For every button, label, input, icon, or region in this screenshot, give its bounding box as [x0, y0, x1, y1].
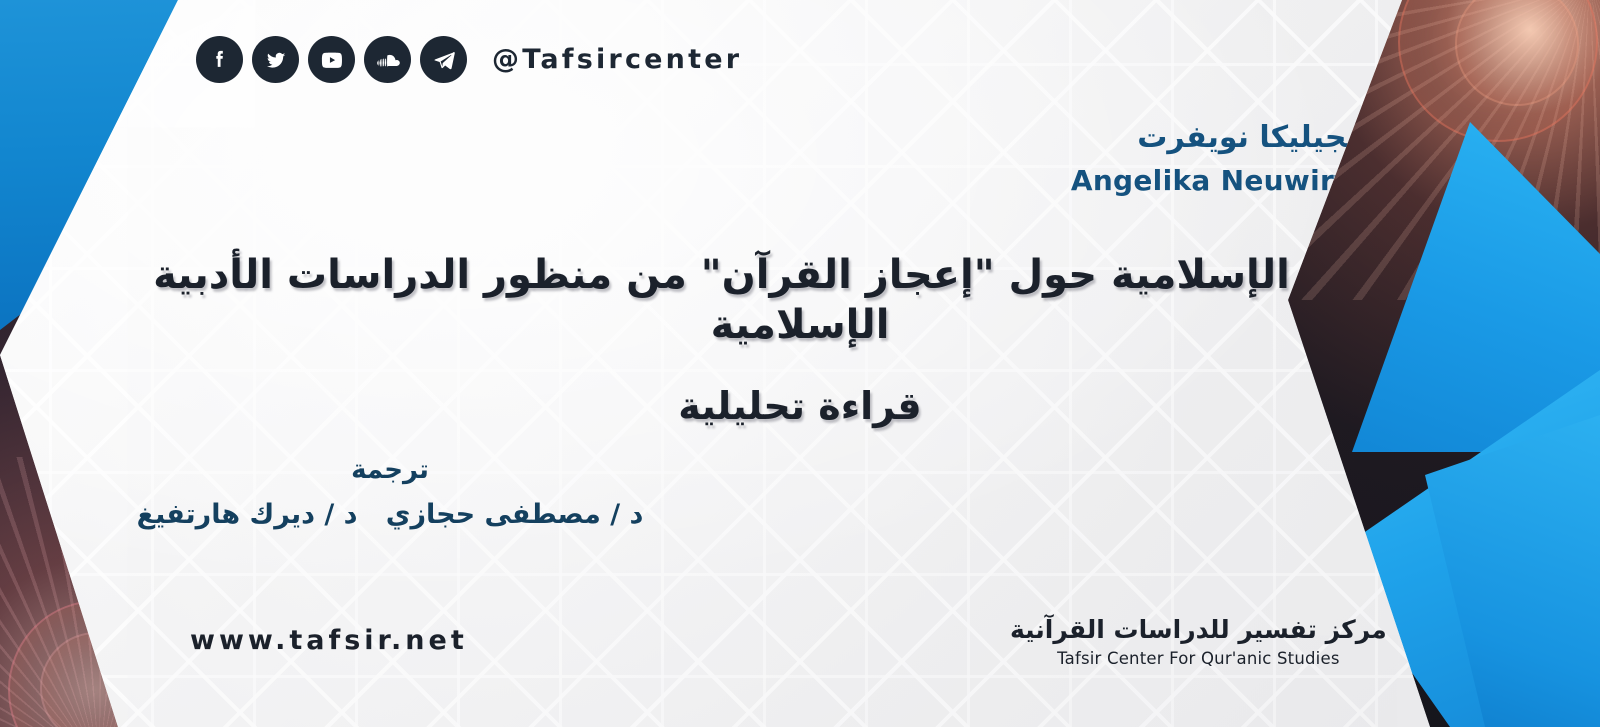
soundcloud-icon[interactable]	[364, 36, 411, 83]
translator-names: د / مصطفى حجازي د / ديرك هارتفيغ	[0, 499, 780, 530]
facebook-icon[interactable]	[196, 36, 243, 83]
youtube-icon[interactable]	[308, 36, 355, 83]
poster-canvas: @Tafsircenter أنجيليكا نويفرت Angelika N…	[0, 0, 1600, 727]
author-block: أنجيليكا نويفرت Angelika Neuwirth	[1071, 120, 1368, 197]
translation-block: ترجمة د / مصطفى حجازي د / ديرك هارتفيغ	[0, 455, 780, 530]
twitter-icon[interactable]	[252, 36, 299, 83]
logo-name-arabic: مركز تفسير للدراسات القرآنية	[1010, 616, 1387, 644]
website-url[interactable]: www.tafsir.net	[190, 625, 468, 656]
author-name-english: Angelika Neuwirth	[1071, 164, 1368, 197]
social-links-bar: @Tafsircenter	[196, 36, 742, 83]
telegram-icon[interactable]	[420, 36, 467, 83]
logo-text: مركز تفسير للدراسات القرآنية Tafsir Cent…	[1010, 616, 1387, 668]
social-handle: @Tafsircenter	[492, 44, 742, 75]
author-name-arabic: أنجيليكا نويفرت	[1071, 120, 1368, 156]
translation-label: ترجمة	[0, 455, 780, 485]
logo-name-english: Tafsir Center For Qur'anic Studies	[1010, 649, 1387, 668]
